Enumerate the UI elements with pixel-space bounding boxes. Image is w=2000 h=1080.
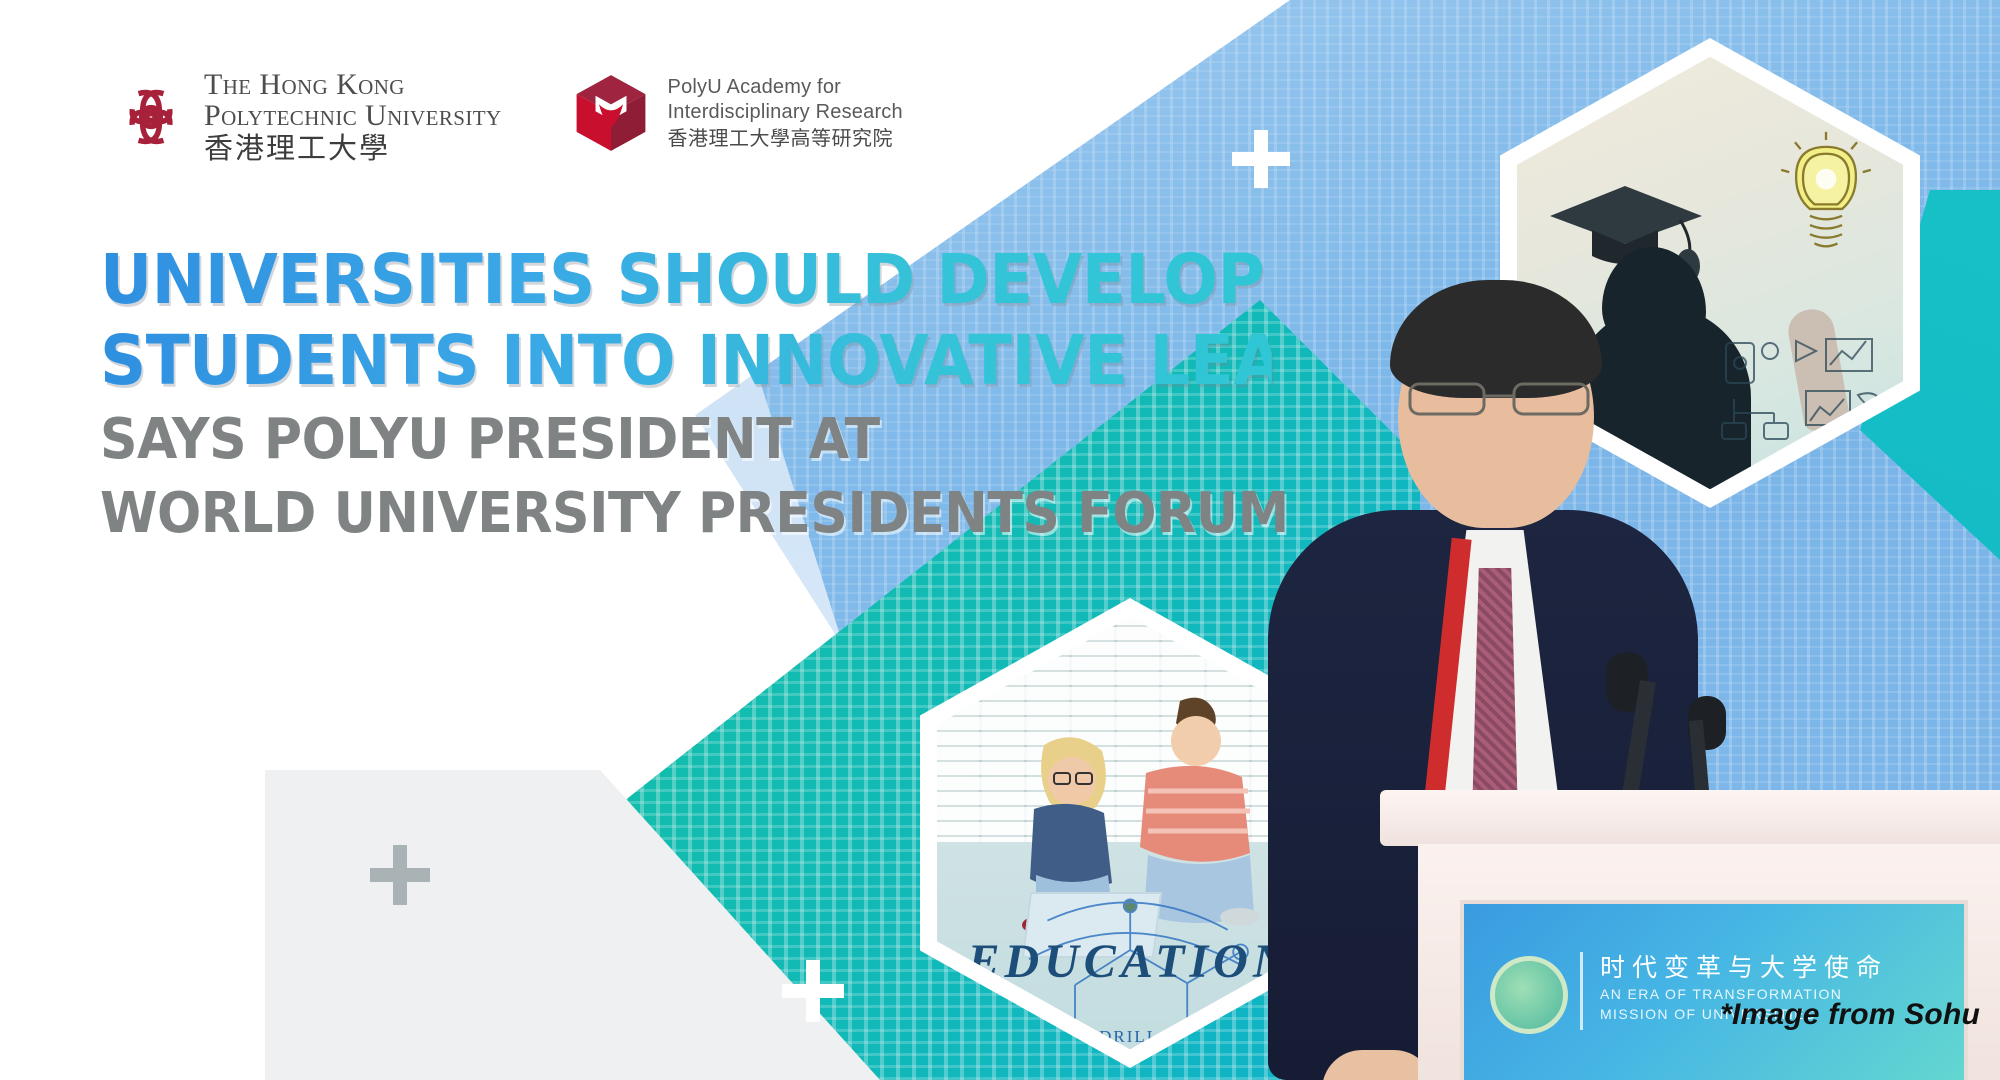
- hkpu-logo-text: The Hong Kong Polytechnic University 香港理…: [204, 70, 502, 163]
- academy-line1: PolyU Academy for: [668, 75, 903, 101]
- education-sub-center: DRILL: [1099, 1027, 1159, 1047]
- academy-line2: Interdisciplinary Research: [668, 100, 903, 126]
- plus-icon-top: [1232, 130, 1290, 188]
- headline-accent-line-2: STUDENTS INTO INNOVATIVE LEADERS,: [100, 321, 1272, 402]
- hkpu-line2: Polytechnic University: [204, 101, 502, 131]
- plus-icon-middle: [782, 960, 844, 1022]
- academy-cube-icon: [568, 70, 654, 156]
- academy-logo-text: PolyU Academy for Interdisciplinary Rese…: [668, 75, 903, 152]
- education-sub-left: STANDING: [960, 1008, 1062, 1028]
- hkpu-knot-icon: [112, 78, 190, 156]
- lightbulb-icon: [1780, 130, 1872, 258]
- plus-icon-left: [370, 845, 430, 905]
- forum-emblem-icon: [1490, 956, 1568, 1034]
- podium-top: [1380, 790, 2000, 846]
- headline-accent-line-1: UNIVERSITIES SHOULD DEVELOP: [100, 240, 1272, 321]
- hkpu-line1: The Hong Kong: [204, 70, 502, 100]
- banner-root: The Hong Kong Polytechnic University 香港理…: [0, 0, 2000, 1080]
- podium-screen: 时代变革与大学使命 AN ERA OF TRANSFORMATION MISSI…: [1460, 900, 1968, 1080]
- image-credit: *Image from Sohu: [1720, 998, 1980, 1032]
- headline-sub-line-1: SAYS POLYU PRESIDENT AT: [100, 403, 1272, 477]
- podium-chinese-title: 时代变革与大学使命: [1600, 948, 1888, 984]
- headline-sub-line-2: WORLD UNIVERSITY PRESIDENTS FORUM: [100, 477, 1272, 551]
- screen-divider: [1580, 952, 1583, 1030]
- polyu-academy-logo: PolyU Academy for Interdisciplinary Rese…: [568, 70, 903, 156]
- academy-chinese: 香港理工大學高等研究院: [668, 126, 903, 152]
- glasses-icon: [1406, 378, 1592, 418]
- headline-block: UNIVERSITIES SHOULD DEVELOP STUDENTS INT…: [100, 240, 1360, 551]
- hkpu-logo: The Hong Kong Polytechnic University 香港理…: [112, 70, 502, 163]
- podium: 时代变革与大学使命 AN ERA OF TRANSFORMATION MISSI…: [1400, 790, 2000, 1080]
- logo-bar: The Hong Kong Polytechnic University 香港理…: [112, 70, 903, 163]
- hkpu-chinese: 香港理工大學: [204, 134, 502, 163]
